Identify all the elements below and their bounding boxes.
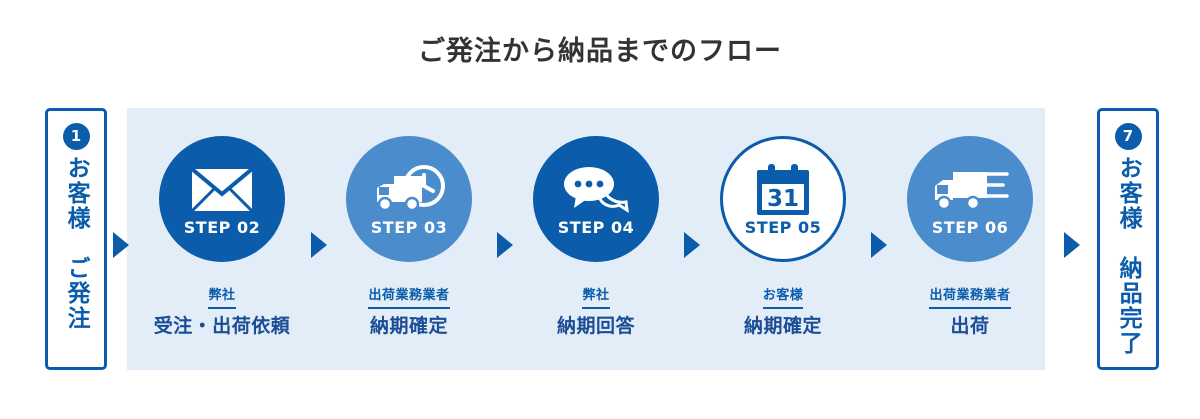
end-box-delivery-complete: 7 お客様 納品完了 xyxy=(1097,108,1159,370)
step04-circle[interactable]: STEP 04 xyxy=(533,136,659,262)
step05-role: お客様 xyxy=(763,288,804,309)
arrow-step03-to-step04 xyxy=(497,232,513,258)
step-card-step05[interactable]: 31 STEP 05 お客様 納期確定 xyxy=(704,136,862,337)
step04-role: 弊社 xyxy=(582,288,609,309)
calendar-31-icon: 31 xyxy=(755,162,811,218)
step-card-step04[interactable]: STEP 04 弊社 納期回答 xyxy=(517,136,675,337)
step06-circle[interactable]: STEP 06 xyxy=(907,136,1033,262)
step-card-step03[interactable]: STEP 03 出荷業務業者 納期確定 xyxy=(330,136,488,337)
step04-label: STEP 04 xyxy=(558,220,634,236)
page-title: ご発注から納品までのフロー xyxy=(0,38,1200,65)
end-box-number: 7 xyxy=(1115,123,1142,150)
step03-label: STEP 03 xyxy=(371,220,447,236)
step02-circle[interactable]: STEP 02 xyxy=(159,136,285,262)
start-box-number: 1 xyxy=(63,123,90,150)
step-card-step06[interactable]: STEP 06 出荷業務業者 出荷 xyxy=(891,136,1049,337)
step02-role: 弊社 xyxy=(208,288,235,309)
step03-caption: 出荷業務業者 納期確定 xyxy=(330,284,488,337)
truck-clock-icon xyxy=(372,162,446,218)
envelope-icon xyxy=(191,162,253,218)
step06-label: STEP 06 xyxy=(932,220,1008,236)
truck-speed-icon xyxy=(931,162,1009,218)
calendar-day-number: 31 xyxy=(767,186,799,212)
step06-action: 出荷 xyxy=(891,315,1049,338)
arrow-start-to-step02 xyxy=(113,232,129,258)
arrow-step04-to-step05 xyxy=(684,232,700,258)
arrow-step02-to-step03 xyxy=(311,232,327,258)
start-box-customer-order: 1 お客様 ご発注 xyxy=(45,108,107,370)
chat-bubbles-icon xyxy=(563,162,629,218)
step05-action: 納期確定 xyxy=(704,315,862,338)
step03-role: 出荷業務業者 xyxy=(368,288,449,309)
step05-circle[interactable]: 31 STEP 05 xyxy=(720,136,846,262)
step05-label: STEP 05 xyxy=(745,220,821,236)
step04-caption: 弊社 納期回答 xyxy=(517,284,675,337)
arrow-step06-to-end xyxy=(1064,232,1080,258)
step02-caption: 弊社 受注・出荷依頼 xyxy=(143,284,301,337)
step03-circle[interactable]: STEP 03 xyxy=(346,136,472,262)
step-card-step02[interactable]: STEP 02 弊社 受注・出荷依頼 xyxy=(143,136,301,337)
step02-action: 受注・出荷依頼 xyxy=(143,315,301,338)
start-box-label: お客様 ご発注 xyxy=(64,156,88,331)
flow-diagram: 1 お客様 ご発注 7 お客様 納品完了 STEP 02 弊社 受注・出荷依頼 xyxy=(0,108,1200,378)
step05-caption: お客様 納期確定 xyxy=(704,284,862,337)
step06-caption: 出荷業務業者 出荷 xyxy=(891,284,1049,337)
arrow-step05-to-step06 xyxy=(871,232,887,258)
step04-action: 納期回答 xyxy=(517,315,675,338)
step02-label: STEP 02 xyxy=(184,220,260,236)
step03-action: 納期確定 xyxy=(330,315,488,338)
end-box-label: お客様 納品完了 xyxy=(1116,156,1140,356)
step06-role: 出荷業務業者 xyxy=(929,288,1010,309)
